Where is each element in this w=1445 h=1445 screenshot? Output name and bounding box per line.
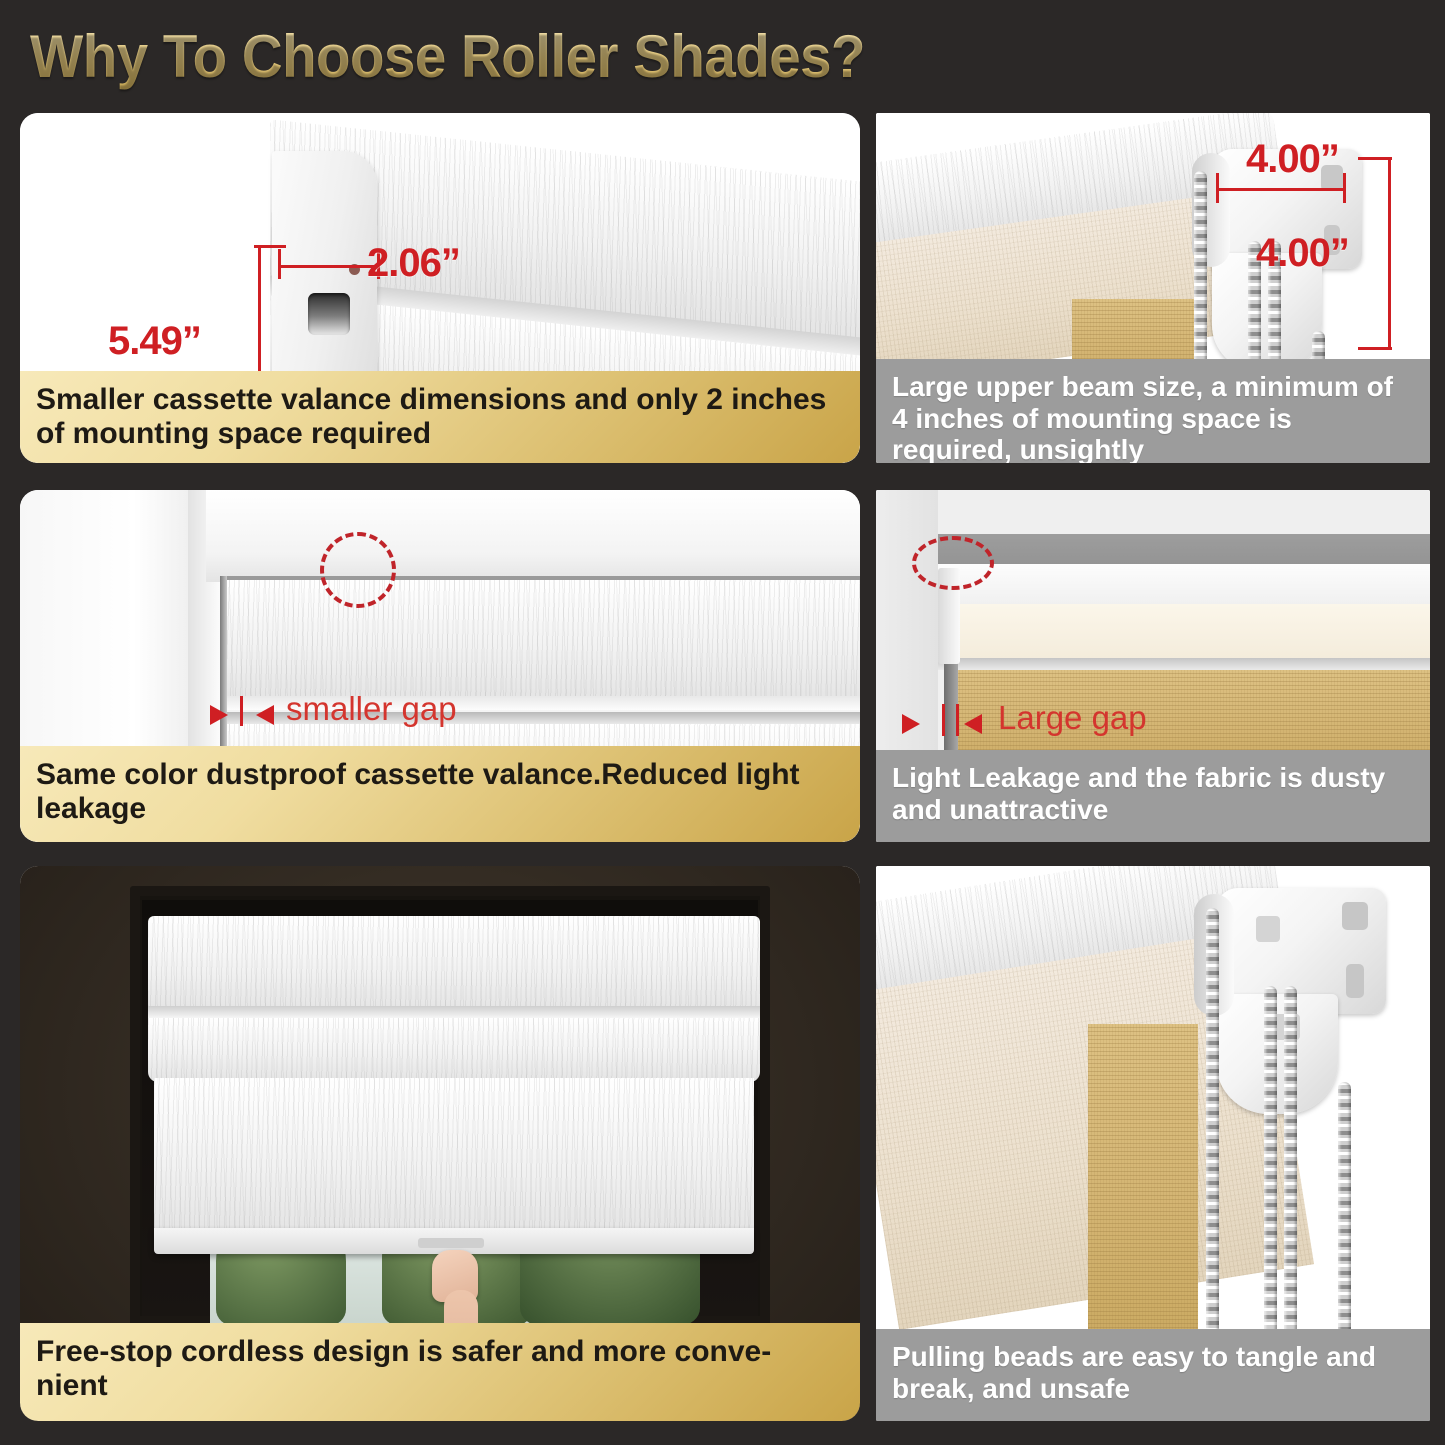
- valance-top-curve: [938, 564, 1430, 608]
- bead-chain-2: [1264, 986, 1277, 1358]
- highlight-circle-icon: [912, 536, 994, 590]
- bracket-notch-top-icon: [1342, 902, 1368, 930]
- gap-label: smaller gap: [286, 690, 457, 728]
- cassette-valance: [148, 916, 760, 1012]
- gap-arrow-right-icon: [256, 705, 274, 725]
- highlight-circle-icon: [320, 532, 396, 608]
- panel-caption: Light Leakage and the fabric is dusty an…: [876, 750, 1430, 842]
- width-dimension-tick-right: [1343, 173, 1346, 203]
- panel-caption-line-2: nient: [36, 1369, 108, 1403]
- panel-caption-text: Large upper beam size, a minimum of 4 in…: [892, 371, 1414, 463]
- panel-cassette-valance-dimensions: 2.06” 5.49” Smaller cassette valance dim…: [20, 113, 860, 463]
- bead-chain-3: [1284, 986, 1297, 1358]
- panel-dustproof-cassette-valance: smaller gap Same color dustproof cassett…: [20, 490, 860, 842]
- width-dimension-label: 4.00”: [1246, 137, 1339, 182]
- valance-lower-lip: [148, 1018, 760, 1082]
- width-dimension-label: 2.06”: [367, 241, 460, 286]
- valance-cream-band: [938, 604, 1430, 660]
- panel-caption-line-1: Free-stop cordless design is safer and m…: [36, 1335, 771, 1369]
- panel-caption-text: Pulling beads are easy to tangle and bre…: [892, 1341, 1414, 1404]
- window-frame-top: [206, 490, 860, 582]
- gap-arrow-right-icon: [964, 714, 982, 734]
- panel-caption: Large upper beam size, a minimum of 4 in…: [876, 359, 1430, 463]
- valance-bottom-rail: [938, 658, 1430, 670]
- bracket-slot-icon: [308, 293, 350, 335]
- panel-caption: Pulling beads are easy to tangle and bre…: [876, 1329, 1430, 1421]
- height-dimension-tick-top: [254, 245, 286, 248]
- width-dimension-line: [1216, 188, 1346, 191]
- gap-arrow-left-icon: [210, 705, 228, 725]
- page-title: Why To Choose Roller Shades?: [30, 22, 1252, 98]
- bracket-notch-bottom-icon: [1346, 964, 1364, 998]
- height-dimension-line: [1388, 157, 1391, 349]
- valance-face: [224, 580, 860, 702]
- bead-chain-4: [1338, 1082, 1351, 1358]
- panel-large-upper-beam: 4.00” 4.00” Large upper beam size, a min…: [876, 113, 1430, 463]
- gap-marker-line-a: [942, 704, 945, 736]
- gap-marker-line: [240, 696, 243, 726]
- bottom-rail-grip: [418, 1238, 484, 1248]
- width-dimension-tick-left: [278, 249, 281, 279]
- height-dimension-tick-bottom: [1358, 347, 1392, 350]
- height-dimension-tick-top: [1358, 157, 1392, 160]
- gap-arrow-left-icon: [902, 714, 920, 734]
- height-dimension-label: 4.00”: [1256, 231, 1349, 276]
- panel-free-stop-cordless-design: Free-stop cordless design is safer and m…: [20, 866, 860, 1421]
- width-dimension-line: [278, 265, 380, 268]
- fabric-tan-section: [1088, 1024, 1198, 1364]
- bead-chain-1: [1206, 908, 1219, 1358]
- shade-fabric: [154, 1078, 754, 1234]
- height-dimension-label: 5.49”: [108, 319, 201, 364]
- width-dimension-tick-left: [1216, 173, 1219, 203]
- panel-caption: Smaller cassette valance dimensions and …: [20, 371, 860, 463]
- gap-label: Large gap: [998, 699, 1147, 737]
- panel-caption-text: Same color dustproof cassette valance.Re…: [36, 758, 844, 826]
- panel-pulling-beads-unsafe: Pulling beads are easy to tangle and bre…: [876, 866, 1430, 1421]
- panel-light-leakage-dusty-fabric: Large gap Light Leakage and the fabric i…: [876, 490, 1430, 842]
- panel-caption: Same color dustproof cassette valance.Re…: [20, 746, 860, 842]
- panel-caption-text: Smaller cassette valance dimensions and …: [36, 383, 844, 451]
- panel-caption: Free-stop cordless design is safer and m…: [20, 1323, 860, 1421]
- bracket-emboss-icon: [1256, 916, 1280, 942]
- mounting-bracket-lower: [1216, 994, 1338, 1114]
- gap-marker-line-b: [956, 704, 959, 736]
- wall-upper: [876, 490, 1430, 538]
- panel-caption-text: Light Leakage and the fabric is dusty an…: [892, 762, 1414, 825]
